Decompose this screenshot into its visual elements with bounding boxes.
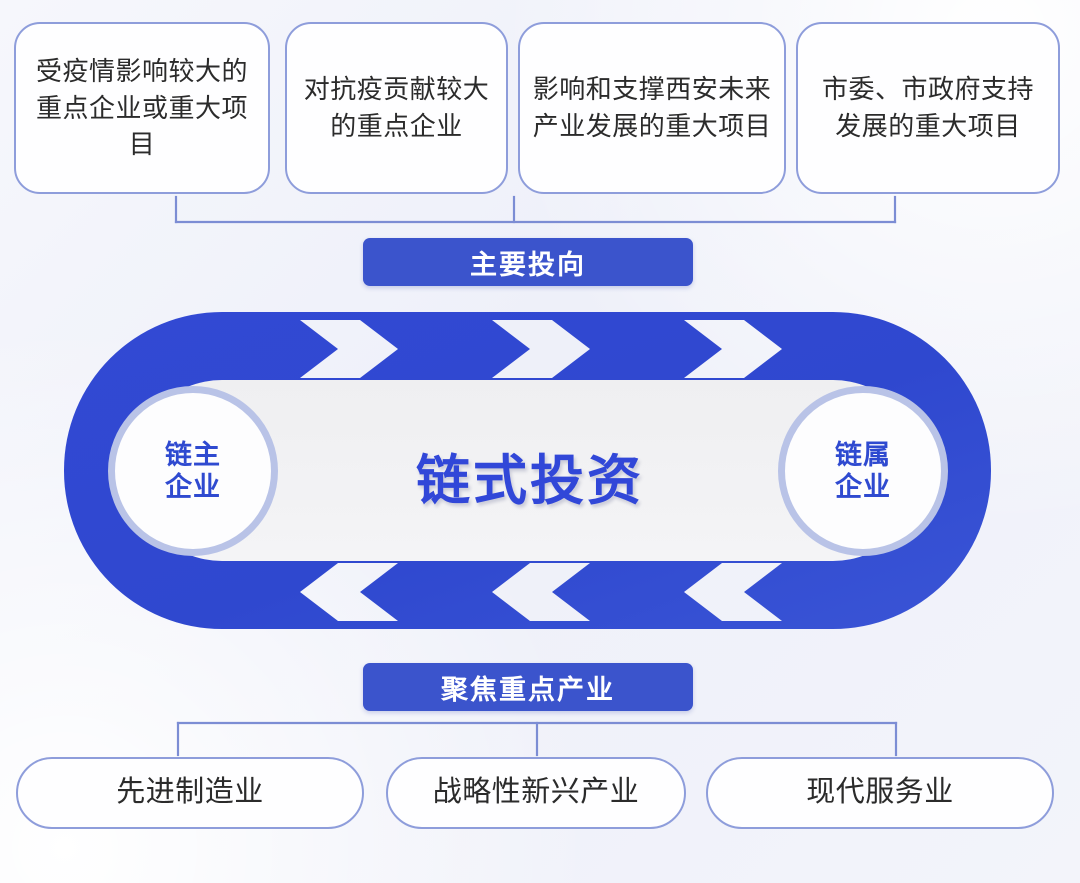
top-box-1[interactable]: 受疫情影响较大的 重点企业或重大项目 [14, 22, 270, 194]
top-box-2-line2: 的重点企业 [304, 108, 490, 145]
bottom-box-2-label: 战略性新兴产业 [433, 772, 640, 813]
bottom-box-1-label: 先进制造业 [116, 772, 264, 813]
top-box-4[interactable]: 市委、市政府支持 发展的重大项目 [796, 22, 1060, 194]
top-box-3-line2: 产业发展的重大项目 [533, 108, 772, 145]
top-box-4-line2: 发展的重大项目 [822, 108, 1034, 145]
chain-leader-node-line1: 链主 [165, 439, 221, 471]
primary-allocation-badge-label: 主要投向 [470, 243, 586, 282]
chain-leader-node[interactable]: 链主 企业 [108, 386, 278, 556]
bottom-box-2[interactable]: 战略性新兴产业 [386, 757, 686, 829]
chain-investment-loop: 链主 企业 链属 企业 链式投资 [60, 308, 995, 633]
chain-affiliate-node[interactable]: 链属 企业 [778, 386, 948, 556]
bottom-box-1[interactable]: 先进制造业 [16, 757, 364, 829]
primary-allocation-badge[interactable]: 主要投向 [363, 238, 693, 286]
bottom-box-3-label: 现代服务业 [806, 772, 954, 813]
diagram-canvas: 受疫情影响较大的 重点企业或重大项目 对抗疫贡献较大 的重点企业 影响和支撑西安… [0, 0, 1080, 883]
bottom-box-3[interactable]: 现代服务业 [706, 757, 1054, 829]
key-industries-badge-label: 聚焦重点产业 [441, 668, 615, 707]
top-box-3-line1: 影响和支撑西安未来 [533, 71, 772, 108]
top-box-2[interactable]: 对抗疫贡献较大 的重点企业 [285, 22, 508, 194]
chain-leader-node-line2: 企业 [165, 471, 221, 503]
top-box-1-line2: 重点企业或重大项目 [26, 90, 258, 164]
chain-affiliate-node-line1: 链属 [835, 439, 891, 471]
key-industries-badge[interactable]: 聚焦重点产业 [363, 663, 693, 711]
top-box-1-line1: 受疫情影响较大的 [26, 53, 258, 90]
top-box-2-line1: 对抗疫贡献较大 [304, 71, 490, 108]
top-box-3[interactable]: 影响和支撑西安未来 产业发展的重大项目 [518, 22, 786, 194]
center-title: 链式投资 [340, 436, 720, 515]
top-box-4-line1: 市委、市政府支持 [822, 71, 1034, 108]
chain-affiliate-node-line2: 企业 [835, 471, 891, 503]
